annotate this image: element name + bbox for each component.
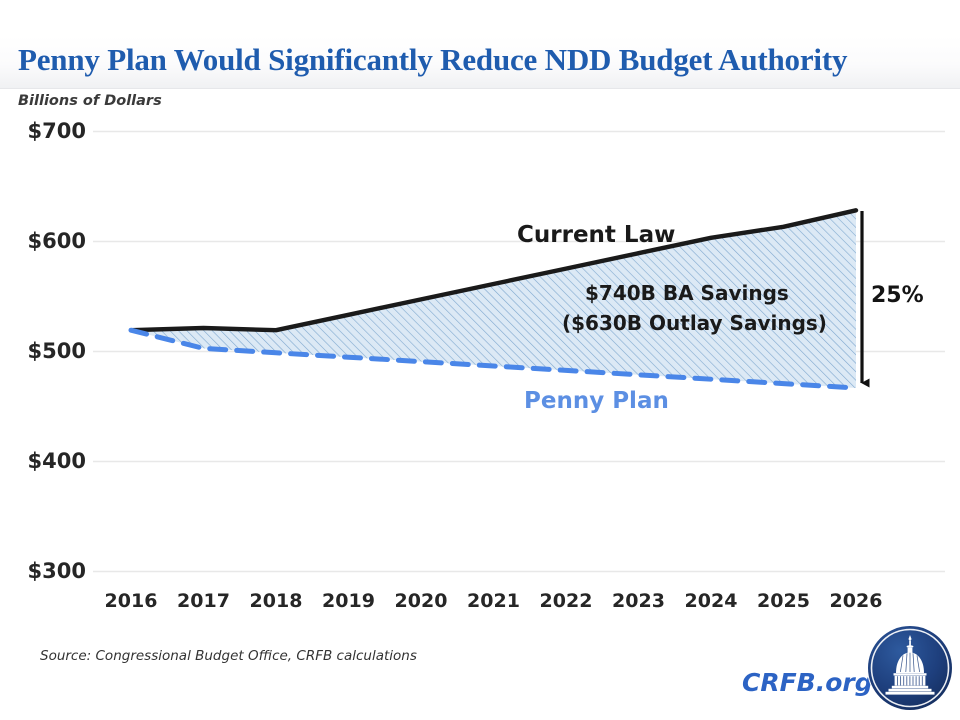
x-tick-label: 2019 <box>313 590 385 612</box>
y-tick-label: $500 <box>0 339 86 363</box>
x-tick-label: 2018 <box>240 590 312 612</box>
x-tick-label: 2025 <box>748 590 820 612</box>
x-tick-label: 2024 <box>675 590 747 612</box>
series-label-penny-plan: Penny Plan <box>524 388 669 414</box>
y-tick-label: $700 <box>0 119 86 143</box>
x-tick-label: 2017 <box>168 590 240 612</box>
y-tick-label: $300 <box>0 559 86 583</box>
x-tick-label: 2026 <box>820 590 892 612</box>
series-label-current-law: Current Law <box>517 222 675 248</box>
y-tick-label: $600 <box>0 229 86 253</box>
y-tick-label: $400 <box>0 449 86 473</box>
savings-label-ba: $740B BA Savings <box>585 281 789 305</box>
slide-canvas: Penny Plan Would Significantly Reduce ND… <box>0 0 960 720</box>
reduction-pct-label: 25% <box>871 283 924 308</box>
x-tick-label: 2016 <box>95 590 167 612</box>
crfb-logo-text: CRFB.org <box>742 668 873 697</box>
capitol-dome-badge-icon <box>866 624 954 712</box>
x-tick-label: 2023 <box>603 590 675 612</box>
x-tick-label: 2020 <box>385 590 457 612</box>
crfb-logo[interactable]: CRFB.org <box>742 624 954 714</box>
x-tick-label: 2022 <box>530 590 602 612</box>
x-tick-label: 2021 <box>458 590 530 612</box>
x-axis: 2016 2017 2018 2019 2020 2021 2022 2023 … <box>0 590 960 620</box>
source-note: Source: Congressional Budget Office, CRF… <box>40 648 417 664</box>
savings-label-outlay: ($630B Outlay Savings) <box>562 311 827 335</box>
